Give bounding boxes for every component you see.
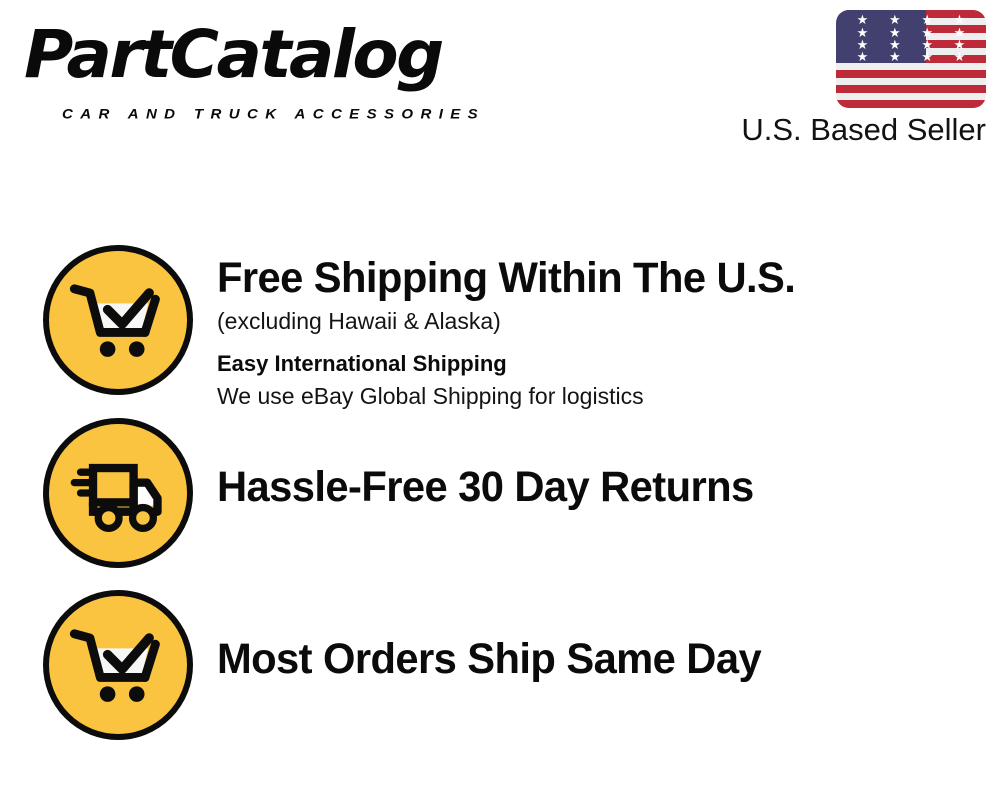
feature-headline: Hassle-Free 30 Day Returns bbox=[217, 464, 977, 510]
us-based-seller-label: U.S. Based Seller bbox=[706, 112, 986, 148]
feature-note-title: Easy International Shipping bbox=[217, 351, 1000, 377]
feature-note-body: We use eBay Global Shipping for logistic… bbox=[217, 383, 1000, 411]
feature-row: Free Shipping Within The U.S. (excluding… bbox=[0, 245, 1000, 411]
brand-tagline: CAR AND TRUCK ACCESSORIES bbox=[62, 106, 485, 122]
shopping-cart-check-icon bbox=[43, 245, 193, 395]
feature-text: Hassle-Free 30 Day Returns bbox=[193, 418, 1000, 510]
feature-text: Most Orders Ship Same Day bbox=[193, 590, 1000, 682]
us-flag-icon: ★★★★ ★★★★ ★★★★ ★★★★ bbox=[836, 10, 986, 108]
feature-headline: Free Shipping Within The U.S. bbox=[217, 255, 977, 301]
feature-row: Most Orders Ship Same Day bbox=[0, 590, 1000, 740]
delivery-truck-icon bbox=[43, 418, 193, 568]
brand-logo: PartCatalog CAR AND TRUCK ACCESSORIES bbox=[24, 22, 494, 114]
feature-headline: Most Orders Ship Same Day bbox=[217, 636, 977, 682]
us-based-seller-badge: ★★★★ ★★★★ ★★★★ ★★★★ U.S. Based Seller bbox=[706, 10, 986, 148]
feature-subline: (excluding Hawaii & Alaska) bbox=[217, 308, 1000, 336]
feature-row: Hassle-Free 30 Day Returns bbox=[0, 418, 1000, 568]
feature-text: Free Shipping Within The U.S. (excluding… bbox=[193, 245, 1000, 411]
brand-wordmark: PartCatalog bbox=[24, 22, 442, 88]
shopping-cart-check-icon bbox=[43, 590, 193, 740]
